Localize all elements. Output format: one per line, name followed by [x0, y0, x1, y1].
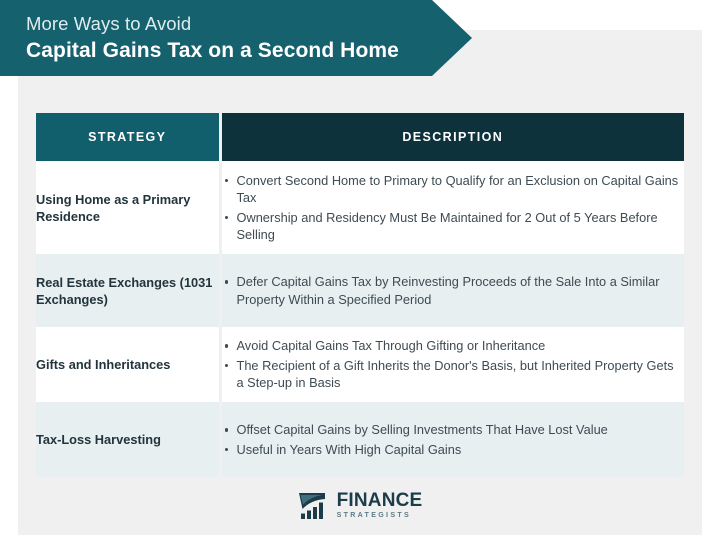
banner-subtitle: More Ways to Avoid	[26, 11, 472, 36]
table-header-row: STRATEGY DESCRIPTION	[36, 113, 684, 161]
list-item: Defer Capital Gains Tax by Reinvesting P…	[222, 273, 685, 308]
bullet-list: Defer Capital Gains Tax by Reinvesting P…	[222, 273, 685, 308]
list-item: Ownership and Residency Must Be Maintain…	[222, 209, 685, 244]
logo-brand: FINANCE	[337, 491, 423, 510]
cell-strategy: Real Estate Exchanges (1031 Exchanges)	[36, 254, 220, 327]
footer-logo: FINANCE STRATEGISTS	[0, 490, 720, 520]
table-header: STRATEGY DESCRIPTION	[36, 113, 684, 161]
column-header-strategy: STRATEGY	[36, 113, 220, 161]
finance-strategists-chart-icon	[298, 490, 332, 520]
table-row: Gifts and Inheritances Avoid Capital Gai…	[36, 327, 684, 402]
table-body: Using Home as a Primary Residence Conver…	[36, 161, 684, 477]
list-item: Useful in Years With High Capital Gains	[222, 441, 685, 459]
logo-tagline: STRATEGISTS	[337, 512, 423, 519]
table-row: Real Estate Exchanges (1031 Exchanges) D…	[36, 254, 684, 327]
bullet-list: Convert Second Home to Primary to Qualif…	[222, 172, 685, 244]
cell-strategy: Using Home as a Primary Residence	[36, 161, 220, 254]
list-item: Avoid Capital Gains Tax Through Gifting …	[222, 337, 685, 355]
list-item: Convert Second Home to Primary to Qualif…	[222, 172, 685, 207]
banner-title: Capital Gains Tax on a Second Home	[26, 37, 472, 65]
column-header-description: DESCRIPTION	[220, 113, 684, 161]
list-item: The Recipient of a Gift Inherits the Don…	[222, 357, 685, 392]
cell-strategy: Tax-Loss Harvesting	[36, 402, 220, 477]
table-row: Tax-Loss Harvesting Offset Capital Gains…	[36, 402, 684, 477]
list-item: Offset Capital Gains by Selling Investme…	[222, 421, 685, 439]
header-banner: More Ways to Avoid Capital Gains Tax on …	[0, 0, 472, 76]
cell-description: Convert Second Home to Primary to Qualif…	[220, 161, 684, 254]
cell-description: Avoid Capital Gains Tax Through Gifting …	[220, 327, 684, 402]
cell-description: Defer Capital Gains Tax by Reinvesting P…	[220, 254, 684, 327]
cell-strategy: Gifts and Inheritances	[36, 327, 220, 402]
logo-wordmark: FINANCE STRATEGISTS	[337, 491, 423, 519]
bullet-list: Offset Capital Gains by Selling Investme…	[222, 421, 685, 458]
table-row: Using Home as a Primary Residence Conver…	[36, 161, 684, 254]
cell-description: Offset Capital Gains by Selling Investme…	[220, 402, 684, 477]
strategy-table: STRATEGY DESCRIPTION Using Home as a Pri…	[36, 113, 684, 477]
bullet-list: Avoid Capital Gains Tax Through Gifting …	[222, 337, 685, 392]
